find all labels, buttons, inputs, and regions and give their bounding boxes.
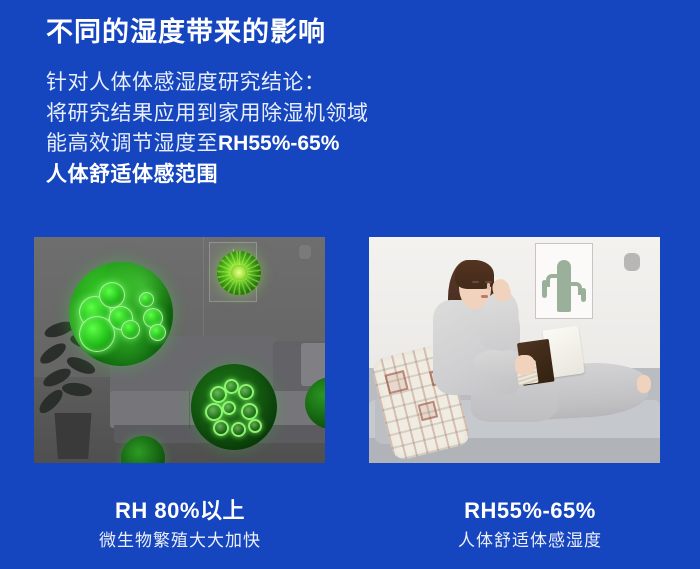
leaf-icon: [37, 340, 69, 366]
microbe-cluster-icon: [69, 262, 173, 366]
spore-pore: [205, 403, 223, 421]
body-line-1: 针对人体体感湿度研究结论：: [46, 68, 666, 98]
eye: [472, 281, 479, 283]
woman-reading: [369, 237, 660, 463]
bacteria-cell-icon: [121, 320, 140, 339]
humidity-range-highlight: RH55%-65%: [218, 132, 339, 155]
panel-high-humidity-photo: [34, 237, 325, 463]
spore-pore: [222, 401, 236, 415]
cushion-seam: [189, 391, 190, 428]
spore-pore: [248, 419, 262, 433]
lips: [481, 295, 488, 298]
plant-pot: [52, 413, 94, 459]
spore-pore: [238, 384, 254, 400]
panel-comfort-humidity-photo: [369, 237, 660, 463]
foot: [637, 375, 652, 393]
bacteria-cell-icon: [99, 282, 125, 308]
panel-captions: RH 80%以上 微生物繁殖大大加快 RH55%-65% 人体舒适体感湿度: [0, 497, 700, 569]
thermostat-icon: [299, 245, 311, 259]
spore-pore: [231, 422, 246, 437]
humidity-comparison-poster: 不同的湿度带来的影响 针对人体体感湿度研究结论： 将研究结果应用到家用除湿机领域…: [0, 0, 700, 569]
comparison-panels: [0, 237, 700, 463]
bacteria-cell-icon: [139, 292, 154, 307]
body-line-4: 人体舒适体感范围: [46, 160, 666, 190]
virus-sphere-icon: [217, 251, 261, 295]
body-line-2: 将研究结果应用到家用除湿机领域: [46, 99, 666, 129]
caption-high-humidity: RH 80%以上 微生物繁殖大大加快: [20, 497, 340, 551]
caption-comfort-humidity: RH55%-65% 人体舒适体感湿度: [370, 497, 690, 551]
leaf-icon: [35, 387, 66, 416]
spore-sphere-icon: [191, 364, 277, 450]
page-title: 不同的湿度带来的影响: [46, 16, 666, 48]
caption-title: RH55%-65%: [370, 497, 690, 525]
caption-subtitle: 微生物繁殖大大加快: [20, 530, 340, 551]
spore-pore: [241, 403, 258, 420]
caption-subtitle: 人体舒适体感湿度: [370, 530, 690, 551]
bacteria-cell-icon: [149, 324, 166, 341]
body-line-3-prefix: 能高效调节湿度至: [46, 132, 218, 155]
spore-pore: [213, 420, 229, 436]
leaf-icon: [61, 380, 93, 399]
body-line-3: 能高效调节湿度至RH55%-65%: [46, 129, 666, 159]
nose: [487, 283, 490, 290]
body-copy: 针对人体体感湿度研究结论： 将研究结果应用到家用除湿机领域 能高效调节湿度至RH…: [46, 68, 666, 190]
caption-title: RH 80%以上: [20, 497, 340, 525]
dark-room-scene: [34, 237, 325, 463]
header-block: 不同的湿度带来的影响 针对人体体感湿度研究结论： 将研究结果应用到家用除湿机领域…: [46, 16, 666, 190]
hand-holding-book: [515, 355, 535, 375]
spore-pore: [224, 379, 239, 394]
bright-room-scene: [369, 237, 660, 463]
